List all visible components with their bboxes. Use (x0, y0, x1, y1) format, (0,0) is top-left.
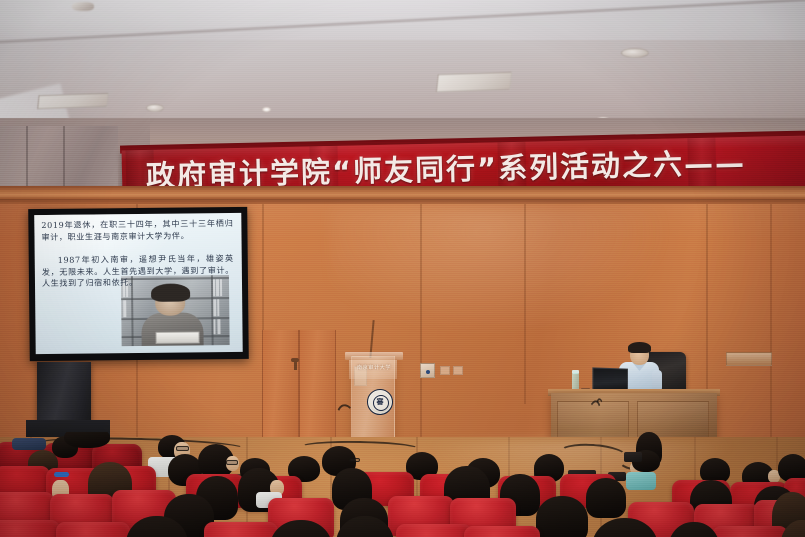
slide-paragraph-2: 1987年初入南审，遥想尹氏当年，雄姿英发，无限未来。人生首先遇到大学，遇到了审… (42, 253, 234, 290)
wall-plate-indicator (426, 370, 430, 374)
wall-notice-plate (453, 366, 463, 375)
seat (396, 524, 472, 537)
wall-upper-trim (0, 186, 805, 199)
audience-head (586, 478, 626, 518)
seat (0, 520, 60, 537)
slide-paragraph-1: 2019年退休，在职三十四年，其中三十三年栖归审计，职业生涯与南京审计大学为伴。 (41, 218, 233, 243)
seat (712, 526, 788, 537)
audience-head (536, 496, 588, 537)
auditorium-photograph: 政府审计学院“师友同行”系列活动之六—— (0, 0, 805, 537)
ceiling-vent-icon (146, 104, 164, 112)
camera-icon (624, 452, 642, 462)
university-emblem-icon: 審 (367, 389, 393, 415)
wall-vent-right-icon (726, 352, 772, 366)
projection-screen-surface: 2019年退休，在职三十四年，其中三十三年栖归审计，职业生涯与南京审计大学为伴。… (34, 213, 242, 354)
seat (56, 522, 130, 537)
stage-door-right[interactable] (299, 330, 336, 442)
wristband (54, 472, 69, 477)
wall-light-sheen (330, 206, 670, 336)
slide-photo-book-stack (156, 331, 200, 343)
audience-shirt-teal (626, 472, 656, 490)
ceiling-downlight-icon (262, 107, 271, 112)
seat (204, 522, 278, 537)
lectern-university-name: 南京审计大学 (352, 364, 396, 371)
ceiling-vent-icon (436, 72, 512, 93)
audience-seating-area (0, 432, 805, 537)
emblem-glyph: 審 (368, 390, 392, 414)
seat (464, 526, 540, 537)
wall-switch-plate-icon[interactable] (420, 363, 435, 378)
ceiling-vent-icon (37, 93, 109, 109)
speaker-hair (628, 342, 651, 353)
stage-door-left[interactable] (262, 330, 299, 442)
eyeglasses-icon (349, 458, 360, 462)
lectern-top-surface (345, 352, 403, 360)
wall-panel-seam (524, 204, 526, 404)
wall-panel-seam (420, 204, 422, 442)
audience-head (64, 432, 110, 448)
wall-panel-seam (770, 204, 772, 456)
eyeglasses-icon (176, 446, 189, 451)
ceiling-vent-icon (621, 48, 649, 58)
projection-screen: 2019年退休，在职三十四年，其中三十三年栖归审计，职业生涯与南京审计大学为伴。… (28, 207, 249, 361)
door-handle-icon (294, 361, 297, 370)
ceiling-light-fixture-icon (72, 2, 94, 11)
audience-shirt (12, 438, 46, 450)
wall-notice-plate (440, 366, 450, 375)
eyeglasses-icon (226, 460, 238, 465)
wall-upper-trim-shadow (0, 199, 805, 204)
